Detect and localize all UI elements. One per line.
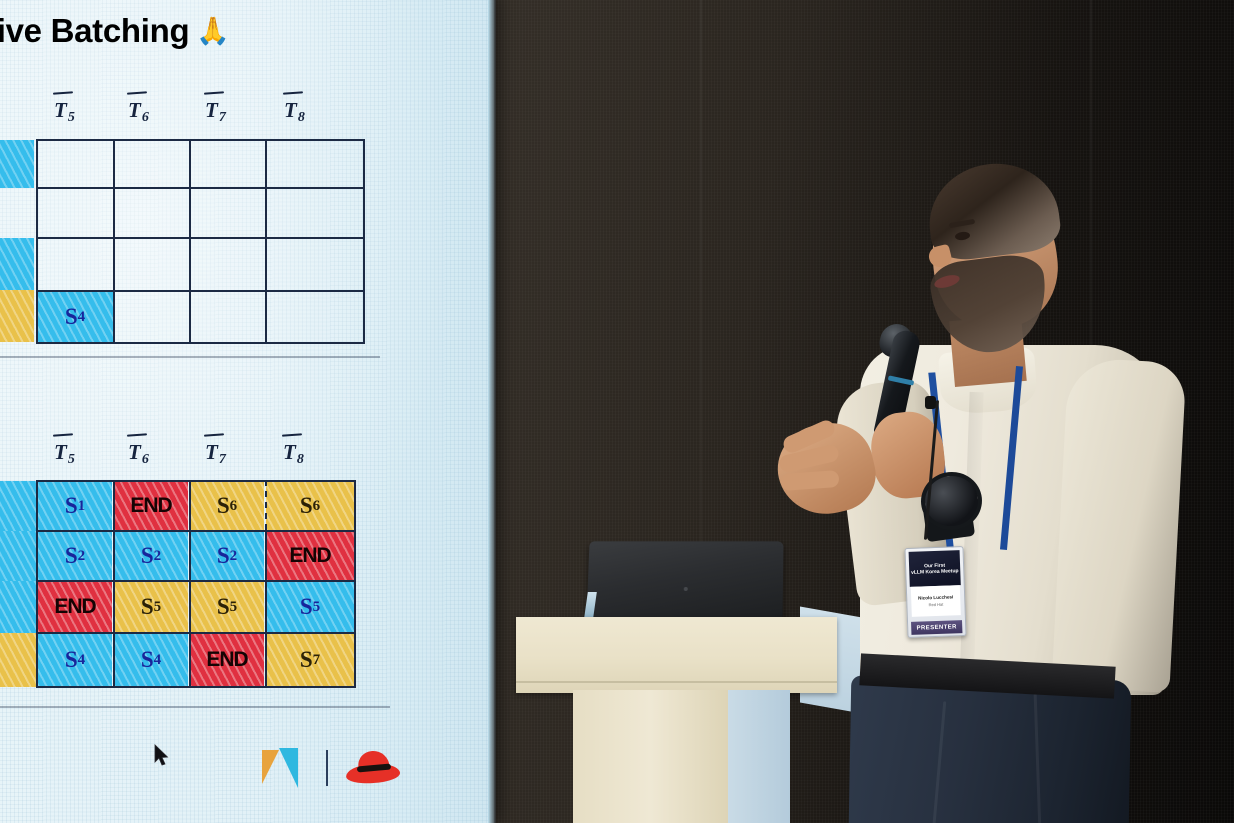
grid-line-v [189,480,191,688]
podium-column [573,690,728,823]
slide-footer-logos [262,748,400,788]
col-header-t6: T6 [128,440,149,468]
table-cell-clipped [0,481,36,531]
col-header-t5: T5 [54,98,75,126]
vllm-logo-icon [262,748,308,788]
table-cell-clipped [0,238,34,290]
screenshot-root: ative Batching🙏 T5 T6 T7 T8 S4 [0,0,1234,823]
badge-role: PRESENTER [911,620,962,635]
praying-hands-icon: 🙏 [196,16,229,46]
col-header-t7: T7 [205,440,226,468]
table-cell-clipped [0,531,36,581]
speaker-trousers [849,676,1132,823]
grid-line-h [36,290,365,292]
grid-baseline [0,356,380,358]
grid-line-v [265,139,267,344]
col-header-t8: T8 [283,440,304,468]
speaker-right-arm [1051,357,1186,693]
grid-baseline [0,706,390,708]
col-header-t8: T8 [284,98,305,126]
logo-divider [326,750,328,786]
badge-header: Our First vLLM Korea Meetup [909,550,961,587]
grid-line-v [113,139,115,344]
slide-title: ative Batching🙏 [0,12,230,50]
col-header-t7: T7 [205,98,226,126]
badge-body: Nicolo Lucchesi Red Hat [911,585,961,617]
table-cell-clipped [0,633,36,687]
grid-line-h [36,580,356,582]
podium-column-side [728,690,790,823]
podium-top [516,617,837,693]
grid-line-h [36,530,356,532]
laptop-lid [586,541,783,619]
lavalier-mic-icon [925,396,936,409]
col-header-t6: T6 [128,98,149,126]
presenter-badge: Our First vLLM Korea Meetup Nicolo Lucch… [904,546,966,638]
slide-title-text: ative Batching [0,12,189,49]
grid-line-dashed [265,480,267,530]
badge-attendee-org: Red Hat [929,602,944,608]
grid-line-v [189,139,191,344]
slide-content: ative Batching🙏 T5 T6 T7 T8 S4 [0,0,494,823]
red-hat-logo-icon [346,751,400,785]
table-cell-clipped [0,140,34,188]
grid-line-h [36,187,365,189]
mouse-pointer-icon[interactable] [154,744,170,768]
grid-line-h [36,237,365,239]
table-cell-clipped [0,581,36,633]
col-header-t5: T5 [54,440,75,468]
grid-line-h [36,632,356,634]
grid-top-outline [36,139,365,344]
table-cell-clipped [0,188,34,238]
grid-bottom-outline [36,480,356,688]
badge-attendee-name: Nicolo Lucchesi [918,594,953,600]
table-cell-clipped [0,290,34,342]
grid-line-v [265,530,267,688]
grid-line-v [113,480,115,688]
badge-header-line2: vLLM Korea Meetup [911,568,959,576]
